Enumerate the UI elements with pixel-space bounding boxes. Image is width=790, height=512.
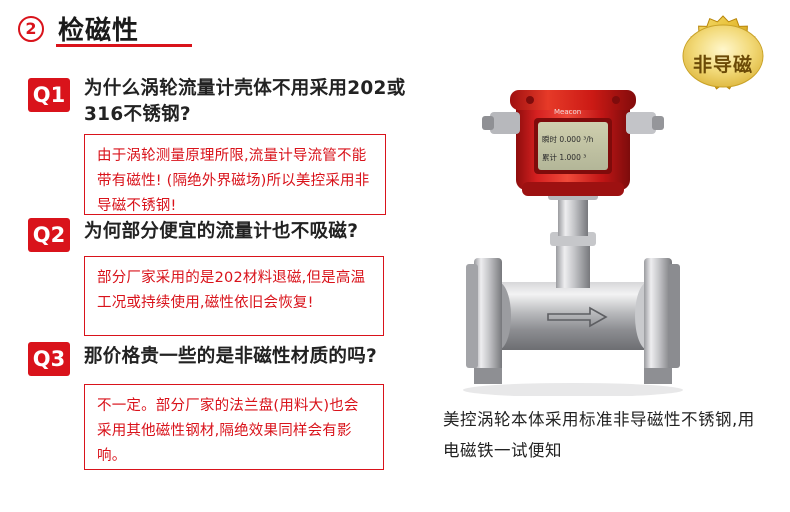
display-line-2: 累计 1.000 ³ [542,152,586,162]
question-badge-3: Q3 [28,342,70,376]
page-title: 检磁性 [58,10,139,47]
display-line-1: 瞬时 0.000 ³/h [542,134,594,144]
question-badge-2: Q2 [28,218,70,252]
section-number-badge: 2 [18,16,44,42]
answer-box-1: 由于涡轮测量原理所限,流量计导流管不能带有磁性! (隔绝外界磁场)所以美控采用非… [84,134,386,215]
question-text-1: 为什么涡轮流量计壳体不用采用202或316不锈钢? [84,76,414,129]
photo-caption: 美控涡轮本体采用标准非导磁性不锈钢,用电磁铁一试便知 [443,405,763,466]
question-text-3: 那价格贵一些的是非磁性材质的吗? [84,344,424,370]
seal-label: 非导磁 [664,14,782,112]
answer-box-2: 部分厂家采用的是202材料退磁,但是高温工况或持续使用,磁性依旧会恢复! [84,256,384,336]
brand-label: Meacon [554,108,581,116]
title-underline [56,44,192,47]
section-header: 2 检磁性 [18,10,139,47]
non-magnetic-seal-badge: 非导磁 [664,14,782,112]
question-badge-1: Q1 [28,78,70,112]
page-root: 2 检磁性 Q1 为什么涡轮流量计壳体不用采用202或316不锈钢? 由于涡轮测… [0,0,790,512]
question-text-2: 为何部分便宜的流量计也不吸磁? [84,219,424,245]
answer-box-3: 不一定。部分厂家的法兰盘(用料大)也会采用其他磁性钢材,隔绝效果同样会有影响。 [84,384,384,470]
